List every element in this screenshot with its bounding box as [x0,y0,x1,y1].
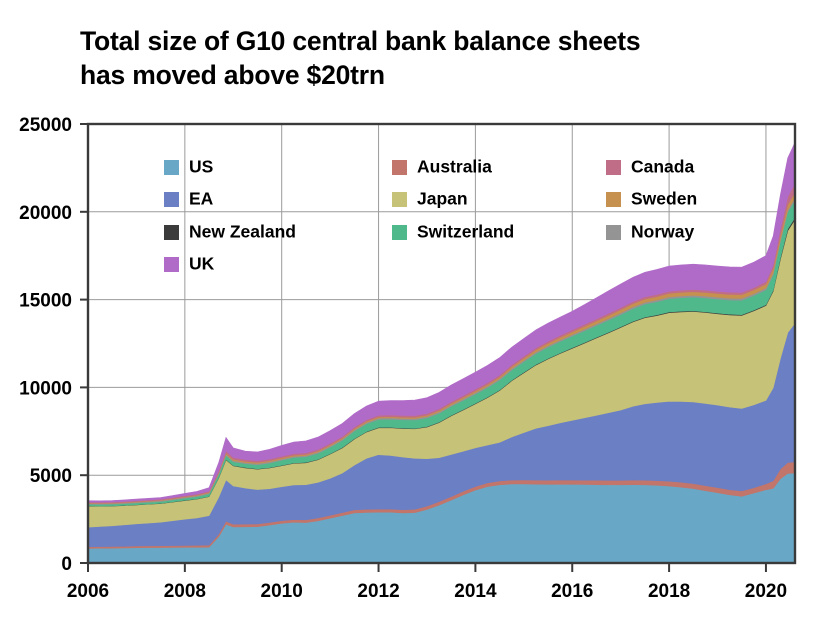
legend-label: Switzerland [417,222,514,242]
legend-item-japan[interactable]: Japan [392,189,468,209]
legend-swatch [392,225,407,240]
legend-label: EA [189,189,214,209]
legend-swatch [392,160,407,175]
x-tick-label: 2014 [454,581,497,602]
legend-label: New Zealand [189,222,296,242]
legend-label: Norway [631,222,694,242]
legend-swatch [606,192,621,207]
x-tick-label: 2006 [67,581,109,602]
x-tick-label: 2016 [551,581,593,602]
legend-item-us[interactable]: US [164,157,213,177]
legend-item-new-zealand[interactable]: New Zealand [164,222,296,242]
legend-item-canada[interactable]: Canada [606,157,694,177]
x-axis-labels: 20062008201020122014201620182020 [67,581,787,602]
y-tick-label: 10000 [19,378,72,399]
legend-label: Canada [631,157,694,177]
legend-swatch [164,257,179,272]
y-axis-labels: 0500010000150002000025000 [19,115,72,575]
legend-item-ea[interactable]: EA [164,189,214,209]
y-tick-label: 0 [61,554,72,575]
legend-item-australia[interactable]: Australia [392,157,492,177]
legend-swatch [164,225,179,240]
x-tick-label: 2020 [745,581,787,602]
chart-legend[interactable]: USAustraliaCanadaEAJapanSwedenNew Zealan… [164,157,697,274]
legend-swatch [164,192,179,207]
legend-item-sweden[interactable]: Sweden [606,189,697,209]
legend-item-switzerland[interactable]: Switzerland [392,222,514,242]
legend-item-uk[interactable]: UK [164,254,215,274]
x-tick-label: 2008 [164,581,206,602]
y-tick-label: 15000 [19,291,72,312]
stacked-area-chart: 0500010000150002000025000 20062008201020… [0,0,820,632]
chart-container: 0500010000150002000025000 20062008201020… [0,0,820,632]
legend-swatch [606,160,621,175]
legend-swatch [606,225,621,240]
y-tick-label: 20000 [19,203,72,224]
legend-item-norway[interactable]: Norway [606,222,694,242]
legend-label: Japan [417,189,468,209]
legend-swatch [164,160,179,175]
y-tick-label: 25000 [19,115,72,136]
legend-label: UK [189,254,215,274]
legend-swatch [392,192,407,207]
x-tick-label: 2010 [261,581,303,602]
x-tick-label: 2018 [648,581,690,602]
legend-label: Sweden [631,189,697,209]
y-tick-label: 5000 [30,466,72,487]
legend-label: US [189,157,213,177]
chart-page: Total size of G10 central bank balance s… [0,0,820,632]
legend-label: Australia [417,157,492,177]
x-tick-label: 2012 [357,581,399,602]
